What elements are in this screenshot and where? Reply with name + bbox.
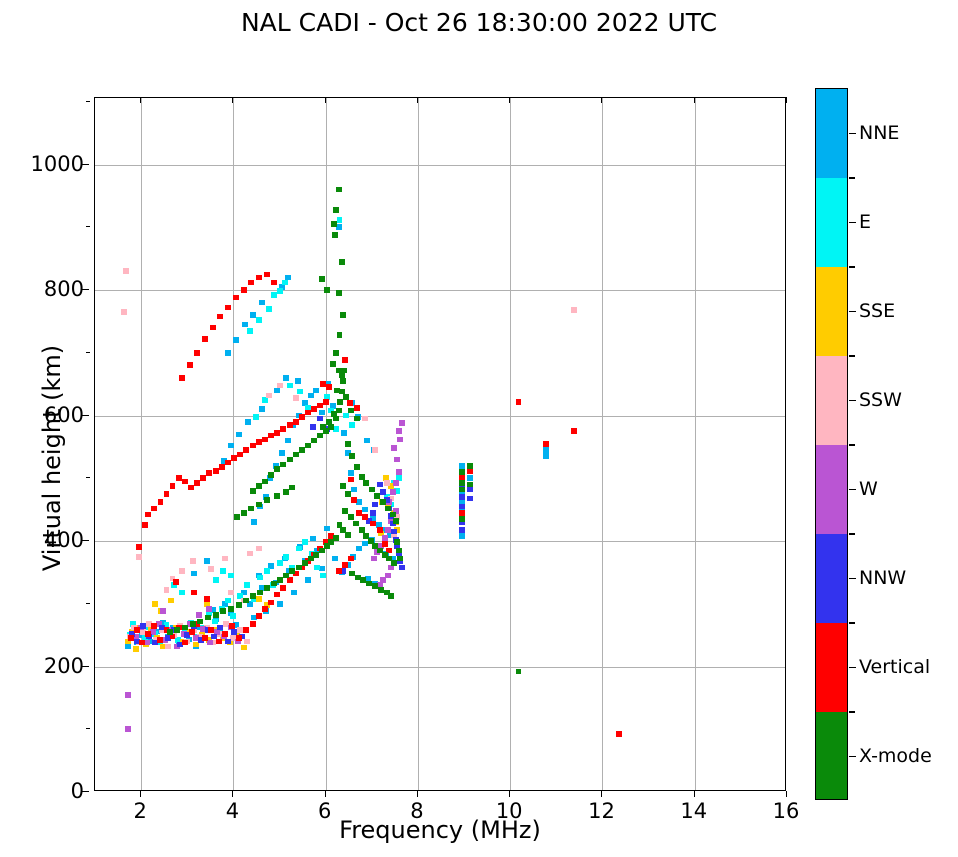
data-point	[356, 546, 362, 552]
data-point	[399, 420, 405, 426]
colorbar-segment-vertical	[816, 623, 847, 712]
data-point	[152, 601, 158, 607]
data-point	[323, 399, 329, 405]
data-point	[380, 489, 386, 495]
data-point	[351, 497, 357, 503]
data-point	[228, 606, 234, 612]
data-point	[362, 507, 368, 513]
data-point	[234, 514, 240, 520]
data-point	[331, 221, 337, 227]
data-point	[363, 480, 369, 486]
data-point	[326, 419, 332, 425]
data-point	[354, 405, 360, 411]
data-point	[348, 470, 354, 476]
data-point	[377, 527, 383, 533]
y-axis-label: Virtual height (km)	[38, 278, 66, 638]
data-point	[128, 635, 134, 641]
data-point	[397, 437, 403, 443]
data-point	[324, 287, 330, 293]
data-point	[256, 317, 262, 323]
data-point	[248, 506, 254, 512]
data-point	[208, 627, 214, 633]
data-point	[228, 590, 234, 596]
data-point	[362, 514, 368, 520]
data-point	[220, 608, 226, 614]
data-point	[233, 295, 239, 301]
data-point	[123, 268, 129, 274]
data-point	[151, 506, 157, 512]
data-point	[140, 623, 146, 629]
data-point	[228, 443, 234, 449]
y-tick-label: 1000	[31, 152, 84, 176]
colorbar-tick	[849, 578, 856, 580]
data-point	[336, 187, 342, 193]
data-point	[337, 399, 343, 405]
x-tick	[601, 791, 602, 797]
colorbar-segment-sse	[816, 267, 847, 356]
data-point	[134, 627, 140, 633]
x-tick	[140, 791, 141, 797]
data-point	[236, 602, 242, 608]
colorbar-boundary-tick	[849, 444, 855, 446]
data-point	[385, 506, 391, 512]
gridline-horizontal	[95, 416, 785, 417]
data-point	[264, 272, 270, 278]
data-point	[283, 554, 289, 560]
data-point	[256, 613, 262, 619]
data-point	[266, 393, 272, 399]
data-canvas	[95, 98, 785, 790]
data-point	[342, 357, 348, 363]
data-point	[259, 300, 265, 306]
data-point	[305, 577, 311, 583]
data-point	[374, 493, 380, 499]
colorbar-label-e: E	[859, 211, 871, 233]
colorbar-boundary-tick	[849, 711, 855, 713]
data-point	[136, 544, 142, 550]
data-point	[289, 568, 295, 574]
data-point	[467, 463, 473, 469]
data-point	[243, 447, 249, 453]
data-point	[125, 726, 131, 732]
data-point	[250, 621, 256, 627]
data-point	[372, 502, 378, 508]
data-point	[319, 548, 325, 554]
data-point	[342, 562, 348, 568]
data-point	[391, 529, 397, 535]
data-point	[390, 489, 396, 495]
data-point	[336, 368, 342, 374]
data-point	[337, 332, 343, 338]
colorbar-tick	[849, 756, 856, 758]
data-point	[345, 441, 351, 447]
data-point	[467, 468, 473, 474]
data-point	[394, 539, 400, 545]
data-point	[243, 627, 249, 633]
data-point	[333, 350, 339, 356]
data-point	[543, 441, 549, 447]
data-point	[332, 232, 338, 238]
data-point	[173, 579, 179, 585]
colorbar-label-sse: SSE	[859, 300, 895, 322]
data-point	[179, 590, 185, 596]
y-minor-tick	[86, 728, 90, 729]
data-point	[259, 406, 265, 412]
data-point	[326, 384, 332, 390]
data-point	[241, 287, 247, 293]
colorbar-tick	[849, 489, 856, 491]
data-point	[459, 480, 465, 486]
data-point	[266, 306, 272, 312]
data-point	[543, 453, 549, 459]
data-point	[225, 598, 231, 604]
data-point	[459, 516, 465, 522]
data-point	[142, 522, 148, 528]
data-point	[330, 361, 336, 367]
data-point	[247, 551, 253, 557]
data-point	[279, 450, 285, 456]
data-point	[467, 487, 473, 493]
data-point	[380, 499, 386, 505]
data-point	[340, 483, 346, 489]
data-point	[516, 669, 522, 675]
data-point	[334, 388, 340, 394]
data-point	[280, 462, 286, 468]
data-point	[244, 582, 250, 588]
data-point	[231, 629, 237, 635]
data-point	[372, 447, 378, 453]
data-point	[151, 623, 157, 629]
data-point	[459, 487, 465, 493]
data-point	[222, 556, 228, 562]
data-point	[320, 424, 326, 430]
data-point	[354, 464, 360, 470]
data-point	[182, 479, 188, 485]
colorbar-tick	[849, 222, 856, 224]
x-tick	[694, 791, 695, 797]
data-point	[296, 565, 302, 571]
data-point	[299, 414, 305, 420]
data-point	[348, 408, 354, 414]
data-point	[285, 438, 291, 444]
data-point	[396, 428, 402, 434]
data-point	[280, 426, 286, 432]
data-point	[202, 635, 208, 641]
data-point	[210, 325, 216, 331]
colorbar-label-nnw: NNW	[859, 567, 906, 589]
data-point	[310, 536, 316, 542]
data-point	[337, 217, 343, 223]
data-point	[165, 644, 171, 650]
data-point	[283, 573, 289, 579]
gridline-horizontal	[95, 667, 785, 668]
data-point	[206, 606, 212, 612]
colorbar-segment-nne	[816, 89, 847, 178]
data-point	[196, 612, 202, 618]
colorbar-tick	[849, 311, 856, 313]
data-point	[256, 596, 262, 602]
data-point	[167, 629, 173, 635]
x-tick-top	[601, 97, 602, 103]
colorbar-boundary-tick	[849, 266, 855, 268]
data-point	[204, 596, 210, 602]
data-point	[242, 322, 248, 328]
colorbar-boundary-tick	[849, 622, 855, 624]
data-point	[467, 482, 473, 488]
data-point	[194, 350, 200, 356]
gridline-vertical	[141, 98, 142, 790]
x-tick	[509, 791, 510, 797]
data-point	[317, 416, 323, 422]
data-point	[160, 608, 166, 614]
data-point	[388, 593, 394, 599]
data-point	[133, 646, 139, 652]
y-tick-label: 200	[44, 654, 84, 678]
data-point	[393, 480, 399, 486]
data-point	[336, 290, 342, 296]
data-point	[289, 485, 295, 491]
colorbar-boundary-tick	[849, 533, 855, 535]
gridline-horizontal	[95, 290, 785, 291]
data-point	[459, 469, 465, 475]
data-point	[179, 568, 185, 574]
gridline-horizontal	[95, 541, 785, 542]
data-point	[274, 388, 280, 394]
data-point	[348, 556, 354, 562]
data-point	[208, 566, 214, 572]
data-point	[264, 497, 270, 503]
data-point	[271, 280, 277, 286]
data-point	[369, 487, 375, 493]
x-tick-top	[786, 97, 787, 103]
data-point	[287, 457, 293, 463]
data-point	[233, 337, 239, 343]
data-point	[256, 546, 262, 552]
data-point	[164, 587, 170, 593]
data-point	[277, 288, 283, 294]
data-point	[382, 535, 388, 541]
data-point	[191, 590, 197, 596]
data-point	[250, 488, 256, 494]
colorbar-segment-w	[816, 445, 847, 534]
data-point	[229, 623, 235, 629]
data-point	[170, 483, 176, 489]
data-point	[543, 447, 549, 453]
data-point	[349, 453, 355, 459]
data-point	[320, 573, 326, 579]
gridline-horizontal	[95, 165, 785, 166]
data-point	[571, 307, 577, 313]
data-point	[274, 592, 280, 598]
data-point	[277, 560, 283, 566]
data-point	[362, 416, 368, 422]
colorbar-boundary-tick	[849, 177, 855, 179]
data-point	[308, 556, 314, 562]
data-point	[332, 556, 338, 562]
data-point	[241, 510, 247, 516]
data-point	[311, 438, 317, 444]
data-point	[351, 487, 357, 493]
data-point	[250, 593, 256, 599]
data-point	[299, 447, 305, 453]
data-point	[293, 395, 299, 401]
page-title: NAL CADI - Oct 26 18:30:00 2022 UTC	[0, 8, 958, 37]
data-point	[217, 625, 223, 631]
data-point	[293, 419, 299, 425]
data-point	[302, 560, 308, 566]
x-tick	[232, 791, 233, 797]
data-point	[158, 499, 164, 505]
data-point	[348, 514, 354, 520]
data-point	[305, 443, 311, 449]
data-point	[212, 619, 218, 625]
colorbar-segment-nnw	[816, 534, 847, 623]
data-point	[205, 615, 211, 621]
data-point	[257, 590, 263, 596]
data-point	[359, 474, 365, 480]
data-point	[349, 422, 355, 428]
data-point	[516, 399, 522, 405]
data-point	[244, 639, 250, 645]
data-point	[145, 631, 151, 637]
data-point	[353, 521, 359, 527]
data-point	[262, 606, 268, 612]
data-point	[333, 207, 339, 213]
data-point	[287, 383, 293, 389]
data-point	[459, 504, 465, 510]
data-point	[207, 640, 213, 646]
colorbar-segment-e	[816, 178, 847, 267]
data-point	[225, 460, 231, 466]
data-point	[296, 546, 302, 552]
data-point	[319, 410, 325, 416]
data-point	[182, 640, 188, 646]
data-point	[206, 470, 212, 476]
data-point	[310, 424, 316, 430]
data-point	[245, 419, 251, 425]
data-point	[253, 414, 259, 420]
y-minor-tick	[86, 226, 90, 227]
data-point	[370, 510, 376, 516]
data-point	[190, 621, 196, 627]
data-point	[202, 336, 208, 342]
data-point	[268, 600, 274, 606]
data-point	[339, 259, 345, 265]
data-point	[459, 510, 465, 516]
data-point	[283, 375, 289, 381]
data-point	[396, 548, 402, 554]
data-point	[319, 276, 325, 282]
data-point	[347, 400, 353, 406]
data-point	[189, 629, 195, 635]
azimuth-colorbar	[815, 88, 848, 800]
data-point	[230, 613, 236, 619]
data-point	[280, 585, 286, 591]
data-point	[264, 585, 270, 591]
data-point	[216, 639, 222, 645]
data-point	[354, 416, 360, 422]
data-point	[277, 383, 283, 389]
data-point	[145, 512, 151, 518]
data-point	[243, 598, 249, 604]
data-point	[213, 612, 219, 618]
data-point	[277, 577, 283, 583]
colorbar-tick	[849, 133, 856, 135]
x-tick	[786, 791, 787, 797]
y-minor-tick	[86, 477, 90, 478]
data-point	[236, 432, 242, 438]
data-point	[168, 598, 174, 604]
x-tick-top	[325, 97, 326, 103]
data-point	[297, 389, 303, 395]
data-point	[295, 378, 301, 384]
data-point	[340, 312, 346, 318]
data-point	[313, 552, 319, 558]
data-point	[264, 568, 270, 574]
data-point	[125, 692, 131, 698]
data-point	[222, 631, 228, 637]
x-tick-top	[694, 97, 695, 103]
data-point	[345, 491, 351, 497]
data-point	[364, 438, 370, 444]
x-tick	[325, 791, 326, 797]
data-point	[191, 571, 197, 577]
data-point	[220, 568, 226, 574]
data-point	[217, 314, 223, 320]
data-point	[136, 554, 142, 560]
gridline-vertical	[418, 98, 419, 790]
data-point	[331, 411, 337, 417]
data-point	[467, 475, 473, 481]
data-point	[308, 393, 314, 399]
y-minor-tick	[86, 603, 90, 604]
data-point	[204, 558, 210, 564]
y-minor-tick	[86, 101, 90, 102]
data-point	[274, 493, 280, 499]
data-point	[302, 539, 308, 545]
gridline-vertical	[326, 98, 327, 790]
x-tick-top	[140, 97, 141, 103]
colorbar-segment-x-mode	[816, 712, 847, 800]
data-point	[164, 491, 170, 497]
data-point	[157, 637, 163, 643]
data-point	[179, 375, 185, 381]
colorbar-label-x-mode: X-mode	[859, 745, 932, 767]
data-point	[348, 477, 354, 483]
data-point	[271, 292, 277, 298]
data-point	[359, 527, 365, 533]
data-point	[225, 639, 231, 645]
data-point	[382, 541, 388, 547]
data-point	[225, 305, 231, 311]
data-point	[391, 445, 397, 451]
data-point	[571, 428, 577, 434]
ionogram-plot	[94, 97, 786, 791]
y-minor-tick	[86, 352, 90, 353]
data-point	[371, 556, 377, 562]
data-point	[328, 424, 334, 430]
data-point	[324, 526, 330, 532]
data-point	[121, 309, 127, 315]
colorbar-label-w: W	[859, 478, 878, 500]
data-point	[391, 560, 397, 566]
data-point	[341, 430, 347, 436]
data-point	[343, 394, 349, 400]
data-point	[182, 625, 188, 631]
colorbar-segment-ssw	[816, 356, 847, 445]
data-point	[188, 485, 194, 491]
gridline-vertical	[510, 98, 511, 790]
